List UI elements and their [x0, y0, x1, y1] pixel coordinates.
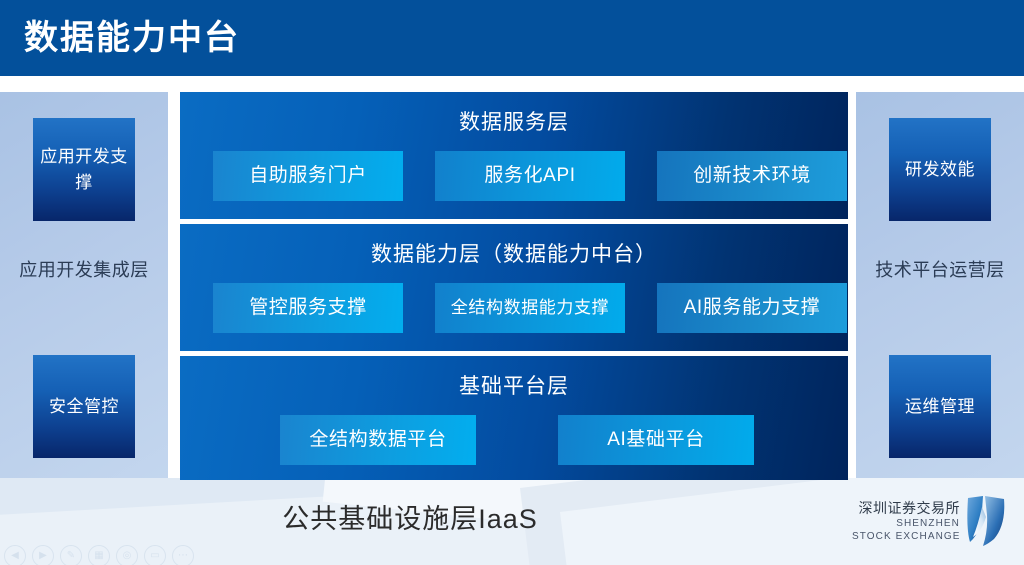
right-column: 研发效能 技术平台运营层 运维管理 — [856, 92, 1024, 478]
layer-title-data-capability: 数据能力层（数据能力中台） — [180, 240, 848, 270]
left-box-security-control[interactable]: 安全管控 — [33, 355, 135, 458]
chip-innovation-tech-env[interactable]: 创新技术环境 — [657, 151, 847, 201]
logo-text-block: 深圳证券交易所 SHENZHEN STOCK EXCHANGE — [852, 499, 960, 543]
pen-icon[interactable]: ✎ — [60, 545, 82, 565]
layer-panel-data-capability: 数据能力层（数据能力中台） 管控服务支撑 全结构数据能力支撑 AI服务能力支撑 — [180, 224, 848, 351]
presentation-toolbar[interactable]: ◀ ▶ ✎ ▦ ◎ ▭ ⋯ — [4, 545, 194, 565]
chip-row-data-capability: 管控服务支撑 全结构数据能力支撑 AI服务能力支撑 — [180, 283, 848, 333]
right-column-label: 技术平台运营层 — [856, 257, 1024, 283]
next-icon[interactable]: ▶ — [32, 545, 54, 565]
right-box-operations-management[interactable]: 运维管理 — [889, 355, 991, 458]
previous-icon[interactable]: ◀ — [4, 545, 26, 565]
layer-panel-base-platform: 基础平台层 全结构数据平台 AI基础平台 — [180, 356, 848, 480]
layer-title-base-platform: 基础平台层 — [180, 372, 848, 402]
left-box-app-dev-support[interactable]: 应用开发支撑 — [33, 118, 135, 221]
slides-grid-icon[interactable]: ▦ — [88, 545, 110, 565]
chip-ai-service-capability[interactable]: AI服务能力支撑 — [657, 283, 847, 333]
chip-full-structure-data-platform[interactable]: 全结构数据平台 — [280, 415, 476, 465]
layer-panel-data-service: 数据服务层 自助服务门户 服务化API 创新技术环境 — [180, 92, 848, 219]
slide-canvas: 数据能力中台 应用开发支撑 应用开发集成层 安全管控 数据服务层 自助服务门户 … — [0, 0, 1024, 565]
chip-self-service-portal[interactable]: 自助服务门户 — [213, 151, 403, 201]
left-column-label: 应用开发集成层 — [0, 257, 168, 283]
display-icon[interactable]: ▭ — [144, 545, 166, 565]
page-title: 数据能力中台 — [24, 15, 240, 61]
logo-english-line2: STOCK EXCHANGE — [852, 530, 960, 543]
footer-caption-iaas: 公共基础设施层IaaS — [0, 500, 820, 538]
logo-chinese-name: 深圳证券交易所 — [852, 499, 960, 517]
header-bar: 数据能力中台 — [0, 0, 1024, 76]
right-box-rnd-efficiency[interactable]: 研发效能 — [889, 118, 991, 221]
chip-row-data-service: 自助服务门户 服务化API 创新技术环境 — [180, 151, 848, 201]
left-column: 应用开发支撑 应用开发集成层 安全管控 — [0, 92, 168, 478]
layer-title-data-service: 数据服务层 — [180, 108, 848, 138]
more-options-icon[interactable]: ⋯ — [172, 545, 194, 565]
zoom-icon[interactable]: ◎ — [116, 545, 138, 565]
chip-governance-service-support[interactable]: 管控服务支撑 — [213, 283, 403, 333]
chip-full-structure-data-capability[interactable]: 全结构数据能力支撑 — [435, 283, 625, 333]
logo-english-line1: SHENZHEN — [852, 517, 960, 530]
center-stack: 数据服务层 自助服务门户 服务化API 创新技术环境 数据能力层（数据能力中台）… — [180, 92, 848, 480]
chip-ai-base-platform[interactable]: AI基础平台 — [558, 415, 754, 465]
chip-service-api[interactable]: 服务化API — [435, 151, 625, 201]
exchange-emblem-icon — [964, 495, 1008, 547]
chip-row-base-platform: 全结构数据平台 AI基础平台 — [180, 415, 848, 465]
shenzhen-stock-exchange-logo: 深圳证券交易所 SHENZHEN STOCK EXCHANGE — [852, 495, 1012, 557]
